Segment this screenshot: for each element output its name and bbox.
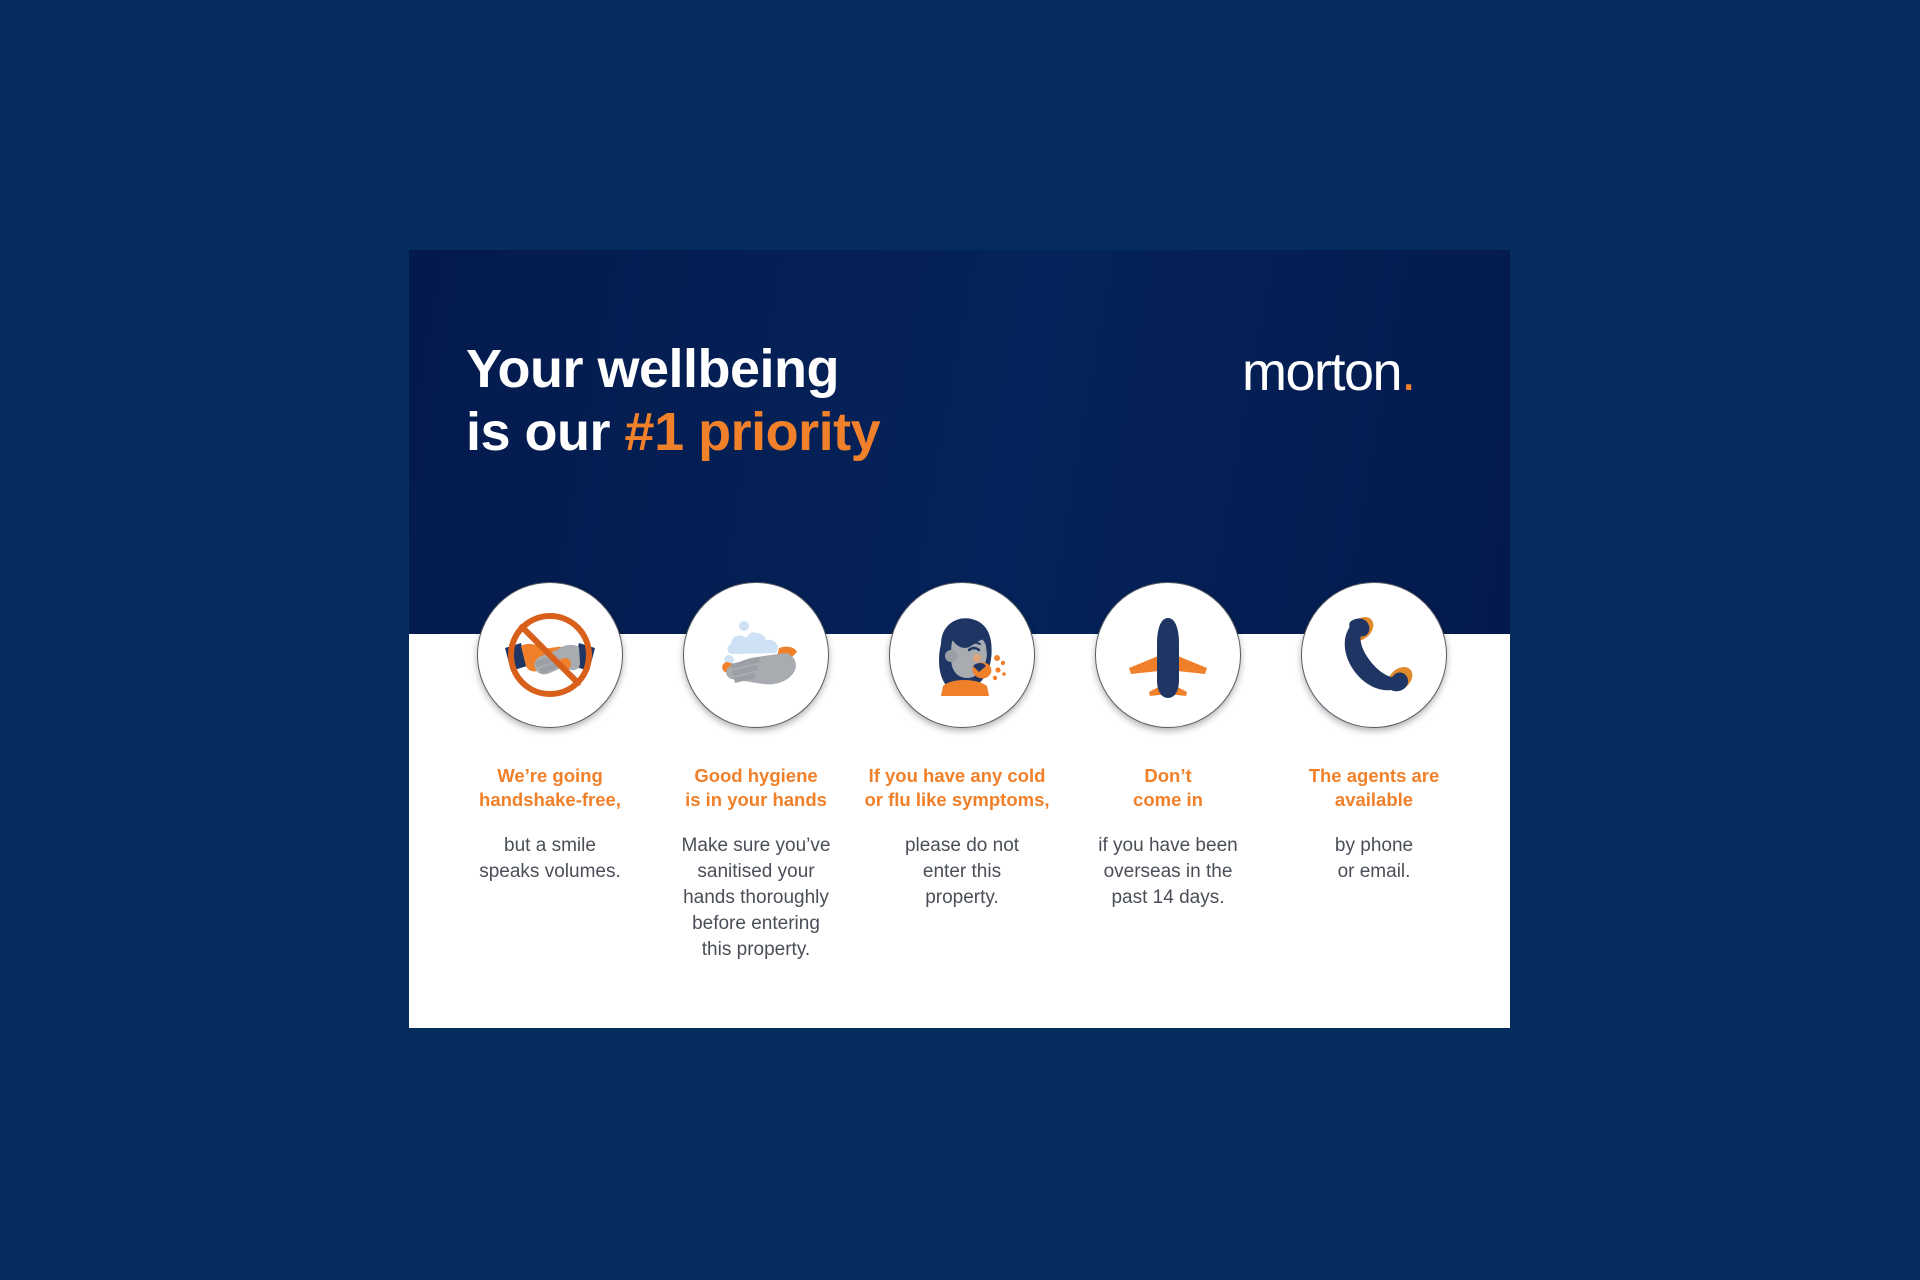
advice-column-contact: The agents are available by phone or ema… bbox=[1276, 582, 1472, 885]
column-body: please do not enter this property. bbox=[905, 833, 1019, 910]
column-title: We’re going handshake-free, bbox=[479, 764, 621, 811]
column-body: but a smile speaks volumes. bbox=[479, 833, 621, 885]
logo-dot: . bbox=[1401, 342, 1415, 402]
advice-column-handshake: We’re going handshake-free, but a smile … bbox=[452, 582, 648, 885]
column-title: If you have any cold or flu like symptom… bbox=[850, 764, 1065, 811]
column-body: Make sure you’ve sanitised your hands th… bbox=[682, 833, 831, 962]
airplane-icon bbox=[1113, 600, 1223, 710]
phone-handset-badge bbox=[1301, 582, 1447, 728]
morton-logo: morton. bbox=[1242, 345, 1415, 399]
phone-handset-icon bbox=[1319, 600, 1429, 710]
column-body: by phone or email. bbox=[1335, 833, 1413, 885]
page-title: Your wellbeing is our #1 priority bbox=[466, 338, 1106, 464]
column-title: The agents are available bbox=[1309, 764, 1440, 811]
advice-columns: We’re going handshake-free, but a smile … bbox=[452, 582, 1472, 962]
advice-column-travel: Don’t come in if you have been overseas … bbox=[1070, 582, 1266, 911]
no-handshake-icon bbox=[495, 600, 605, 710]
sneezing-person-badge bbox=[889, 582, 1035, 728]
headline-line-2-accent: #1 priority bbox=[625, 402, 881, 462]
column-body: if you have been overseas in the past 14… bbox=[1068, 833, 1268, 910]
headline-line-1: Your wellbeing bbox=[466, 338, 1106, 401]
hand-washing-icon bbox=[701, 600, 811, 710]
logo-wordmark: morton bbox=[1242, 342, 1401, 402]
column-title: Good hygiene is in your hands bbox=[685, 764, 827, 811]
no-handshake-badge bbox=[477, 582, 623, 728]
airplane-badge bbox=[1095, 582, 1241, 728]
wellbeing-poster: Your wellbeing is our #1 priority morton… bbox=[0, 0, 1920, 1280]
headline-line-2: is our #1 priority bbox=[466, 401, 1106, 464]
hand-washing-badge bbox=[683, 582, 829, 728]
advice-column-hygiene: Good hygiene is in your hands Make sure … bbox=[658, 582, 854, 962]
sneezing-person-icon bbox=[907, 600, 1017, 710]
advice-column-symptoms: If you have any cold or flu like symptom… bbox=[864, 582, 1060, 911]
headline-line-2-white: is our bbox=[466, 402, 625, 462]
column-title: Don’t come in bbox=[1133, 764, 1203, 811]
